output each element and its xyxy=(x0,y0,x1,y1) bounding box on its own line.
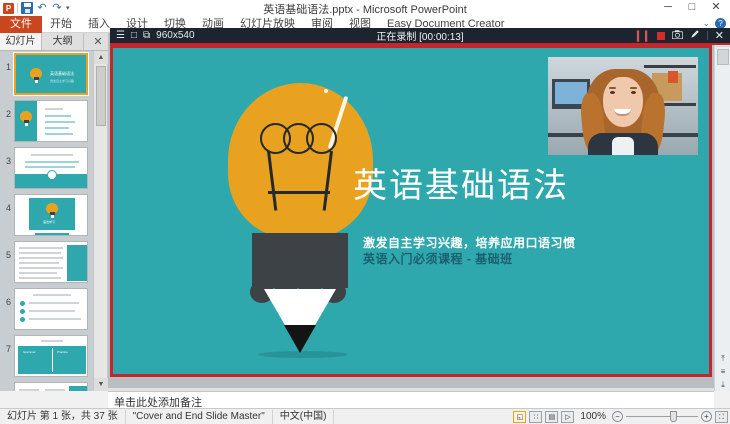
slide-nav-buttons: ⤒ ≡ ⤓ xyxy=(715,352,730,391)
tab-slides[interactable]: 幻灯片 xyxy=(0,33,42,50)
lightbulb-pencil-icon xyxy=(20,111,32,125)
view-slide-sorter-button[interactable]: ∷ xyxy=(529,411,542,423)
slide-subtitle-line-1[interactable]: 激发自主学习兴趣，培养应用口语习惯 xyxy=(363,234,576,251)
slide-title[interactable]: 英语基础语法 xyxy=(353,158,569,207)
slide-thumbnail-5[interactable] xyxy=(14,241,88,283)
close-button[interactable]: ✕ xyxy=(704,0,728,15)
filament-crossbar xyxy=(268,191,330,194)
lightbulb-pencil-illustration xyxy=(208,63,393,363)
scroll-up-icon[interactable]: ▲ xyxy=(94,51,108,64)
bulb-glass xyxy=(228,83,373,238)
zoom-out-button[interactable]: − xyxy=(612,411,623,422)
lightbulb-pencil-icon xyxy=(46,203,58,217)
background-box xyxy=(668,71,678,83)
slide-thumbnail-4[interactable]: 语法学习 xyxy=(14,194,88,236)
slide-number: 5 xyxy=(2,241,14,260)
slide-number: 8 xyxy=(2,382,14,391)
slide-number: 1 xyxy=(2,53,14,72)
slide-number: 4 xyxy=(2,194,14,213)
camera-glyph xyxy=(672,30,683,39)
pen-icon[interactable] xyxy=(690,29,700,42)
slide-thumbnail-8[interactable] xyxy=(14,382,88,391)
presenter-webcam-overlay[interactable] xyxy=(543,52,703,160)
presenter-face xyxy=(603,77,643,127)
status-bar: 幻灯片 第 1 张，共 37 张 "Cover and End Slide Ma… xyxy=(0,408,730,424)
slide-number: 7 xyxy=(2,335,14,354)
screen-recorder-toolbar[interactable]: ☰ □ ⧉ 960x540 正在录制 [00:00:13] ❙❙ ✕ xyxy=(110,28,730,45)
filament-circle xyxy=(306,123,337,154)
recorder-right-controls: ❙❙ ✕ xyxy=(633,29,724,42)
zoom-slider-handle[interactable] xyxy=(670,411,677,422)
pencil-body xyxy=(252,233,348,288)
slide-thumbnail-6[interactable] xyxy=(14,288,88,330)
stop-icon[interactable] xyxy=(657,32,665,40)
all-slides-button[interactable]: ≡ xyxy=(715,365,730,378)
drop-shadow xyxy=(258,351,348,358)
window-title: 英语基础语法.pptx - Microsoft PowerPoint xyxy=(0,1,730,17)
close-recorder-icon[interactable]: ✕ xyxy=(715,29,724,42)
language-status[interactable]: 中文(中国) xyxy=(273,410,335,424)
previous-slide-button[interactable]: ⤒ xyxy=(715,352,730,365)
tab-file[interactable]: 文件 xyxy=(0,16,42,33)
bulb-highlight-dot xyxy=(324,89,328,93)
slide-number: 3 xyxy=(2,147,14,166)
list-item[interactable]: 4 语法学习 xyxy=(0,194,94,236)
view-reading-button[interactable]: ▤ xyxy=(545,411,558,423)
list-item[interactable]: 3 xyxy=(0,147,94,189)
list-item[interactable]: 7 Grammar Practice xyxy=(0,335,94,377)
theme-name-status[interactable]: "Cover and End Slide Master" xyxy=(126,410,273,424)
slide-number: 2 xyxy=(2,100,14,119)
list-item[interactable]: 5 xyxy=(0,241,94,283)
title-bar: P ↶ ↷ ▾ 英语基础语法.pptx - Microsoft PowerPoi… xyxy=(0,0,730,16)
zoom-slider[interactable] xyxy=(626,411,698,422)
minimize-button[interactable]: ─ xyxy=(656,0,680,15)
slide-scrollbar[interactable]: ▲ ⤒ ≡ ⤓ xyxy=(714,33,730,391)
zoom-in-button[interactable]: + xyxy=(701,411,712,422)
presenter-eye xyxy=(610,91,615,94)
thumb-subtitle: 激发自主学习兴趣 xyxy=(50,79,74,83)
tab-outline[interactable]: 大纲 xyxy=(42,33,84,50)
fit-slide-to-window-button[interactable]: ⛶ xyxy=(715,411,728,423)
scroll-down-icon[interactable]: ▼ xyxy=(94,378,108,391)
presenter-eyebrow xyxy=(630,87,637,89)
pencil-graphite-point xyxy=(284,325,316,353)
status-right-controls: ◱ ∷ ▤ ▷ 100% − + ⛶ xyxy=(513,411,728,423)
presenter-eye xyxy=(631,91,636,94)
presenter-eyebrow xyxy=(609,87,616,89)
tab-home[interactable]: 开始 xyxy=(42,16,80,33)
presenter-shirt xyxy=(612,137,634,155)
camera-icon[interactable] xyxy=(672,30,683,42)
slides-panel: 幻灯片 大纲 ✕ 1 英语基础语法 激发自主学习兴趣 2 xyxy=(0,33,108,391)
list-item[interactable]: 8 xyxy=(0,382,94,391)
scrollbar-thumb[interactable] xyxy=(96,66,106,126)
divider xyxy=(707,31,708,40)
pause-icon[interactable]: ❙❙ xyxy=(633,29,649,42)
powerpoint-window: P ↶ ↷ ▾ 英语基础语法.pptx - Microsoft PowerPoi… xyxy=(0,0,730,424)
list-item[interactable]: 6 xyxy=(0,288,94,330)
current-slide-canvas[interactable]: 英语基础语法 激发自主学习兴趣，培养应用口语习惯 英语入门必须课程 - 基础班 xyxy=(113,48,709,374)
slides-panel-scrollbar[interactable]: ▲ ▼ xyxy=(93,51,107,391)
slides-panel-tabs: 幻灯片 大纲 ✕ xyxy=(0,33,108,51)
close-panel-icon[interactable]: ✕ xyxy=(88,33,108,50)
slide-number: 6 xyxy=(2,288,14,307)
notes-pane[interactable]: 单击此处添加备注 xyxy=(108,391,714,408)
slide-thumbnail-list[interactable]: 1 英语基础语法 激发自主学习兴趣 2 xyxy=(0,51,94,391)
webcam-video-feed xyxy=(548,57,698,155)
window-controls: ─ □ ✕ xyxy=(656,0,728,15)
view-slideshow-button[interactable]: ▷ xyxy=(561,411,574,423)
slide-thumbnail-1[interactable]: 英语基础语法 激发自主学习兴趣 xyxy=(14,53,88,95)
slide-count-status[interactable]: 幻灯片 第 1 张，共 37 张 xyxy=(0,410,126,424)
view-normal-button[interactable]: ◱ xyxy=(513,411,526,423)
list-item[interactable]: 2 xyxy=(0,100,94,142)
slide-thumbnail-7[interactable]: Grammar Practice xyxy=(14,335,88,377)
slide-thumbnail-3[interactable] xyxy=(14,147,88,189)
list-item[interactable]: 1 英语基础语法 激发自主学习兴趣 xyxy=(0,53,94,95)
zoom-level-label[interactable]: 100% xyxy=(577,411,609,422)
slide-subtitle-line-2[interactable]: 英语入门必须课程 - 基础班 xyxy=(363,250,513,267)
lightbulb-pencil-icon xyxy=(30,68,42,82)
maximize-button[interactable]: □ xyxy=(680,0,704,15)
slide-thumbnail-2[interactable] xyxy=(14,100,88,142)
thumb-title: 英语基础语法 xyxy=(50,72,74,76)
next-slide-button[interactable]: ⤓ xyxy=(715,378,730,391)
background-shelf xyxy=(644,65,696,68)
pen-glyph xyxy=(690,29,700,39)
scrollbar-thumb[interactable] xyxy=(717,49,729,65)
